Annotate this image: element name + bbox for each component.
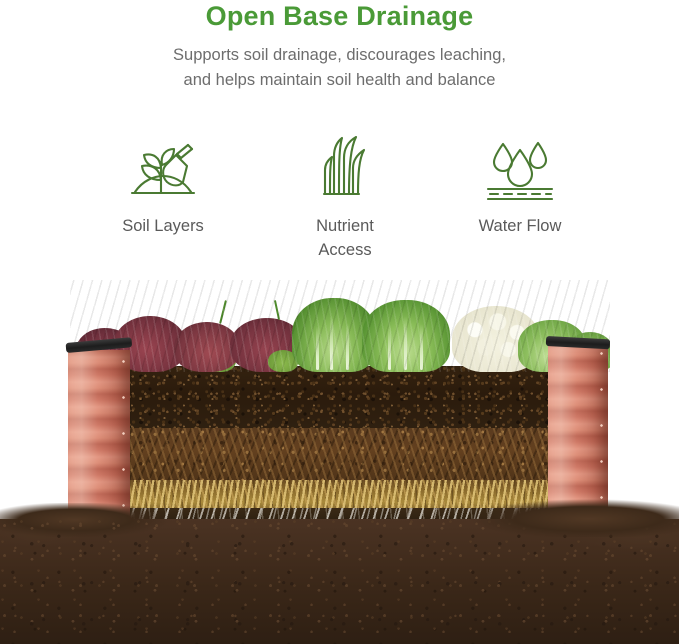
raised-garden-bed-illustration xyxy=(0,280,679,644)
product-feature-graphic: Open Base Drainage Supports soil drainag… xyxy=(0,0,679,644)
feature-label-soil-layers: Soil Layers xyxy=(68,200,258,238)
soil-layer-compost-mulch xyxy=(128,428,552,484)
grass-blades-icon xyxy=(250,132,440,200)
ground-soil xyxy=(0,519,679,644)
page-title: Open Base Drainage xyxy=(0,0,679,31)
feature-label-line-2: Access xyxy=(318,241,371,259)
plant-sprig xyxy=(219,300,227,324)
feature-label-line-1: Nutrient xyxy=(316,217,374,235)
page-subtitle: Supports soil drainage, discourages leac… xyxy=(0,31,679,93)
plant-with-shovel-icon xyxy=(68,132,258,200)
plant-row xyxy=(70,280,610,372)
plant-sprig xyxy=(274,300,280,320)
header: Open Base Drainage Supports soil drainag… xyxy=(0,0,679,93)
subtitle-line-2: and helps maintain soil health and balan… xyxy=(0,68,679,93)
soil-layer-topsoil xyxy=(128,366,552,428)
feature-label-nutrient-access: Nutrient Access xyxy=(250,200,440,262)
feature-water-flow: Water Flow xyxy=(425,132,615,238)
feature-label-water-flow: Water Flow xyxy=(425,200,615,238)
water-droplets-icon xyxy=(425,132,615,200)
feature-list: Soil Layers Nutrient Acc xyxy=(0,132,679,272)
feature-soil-layers: Soil Layers xyxy=(68,132,258,238)
subtitle-line-1: Supports soil drainage, discourages leac… xyxy=(0,43,679,68)
feature-nutrient-access: Nutrient Access xyxy=(250,132,440,262)
green-cabbage xyxy=(362,300,450,372)
